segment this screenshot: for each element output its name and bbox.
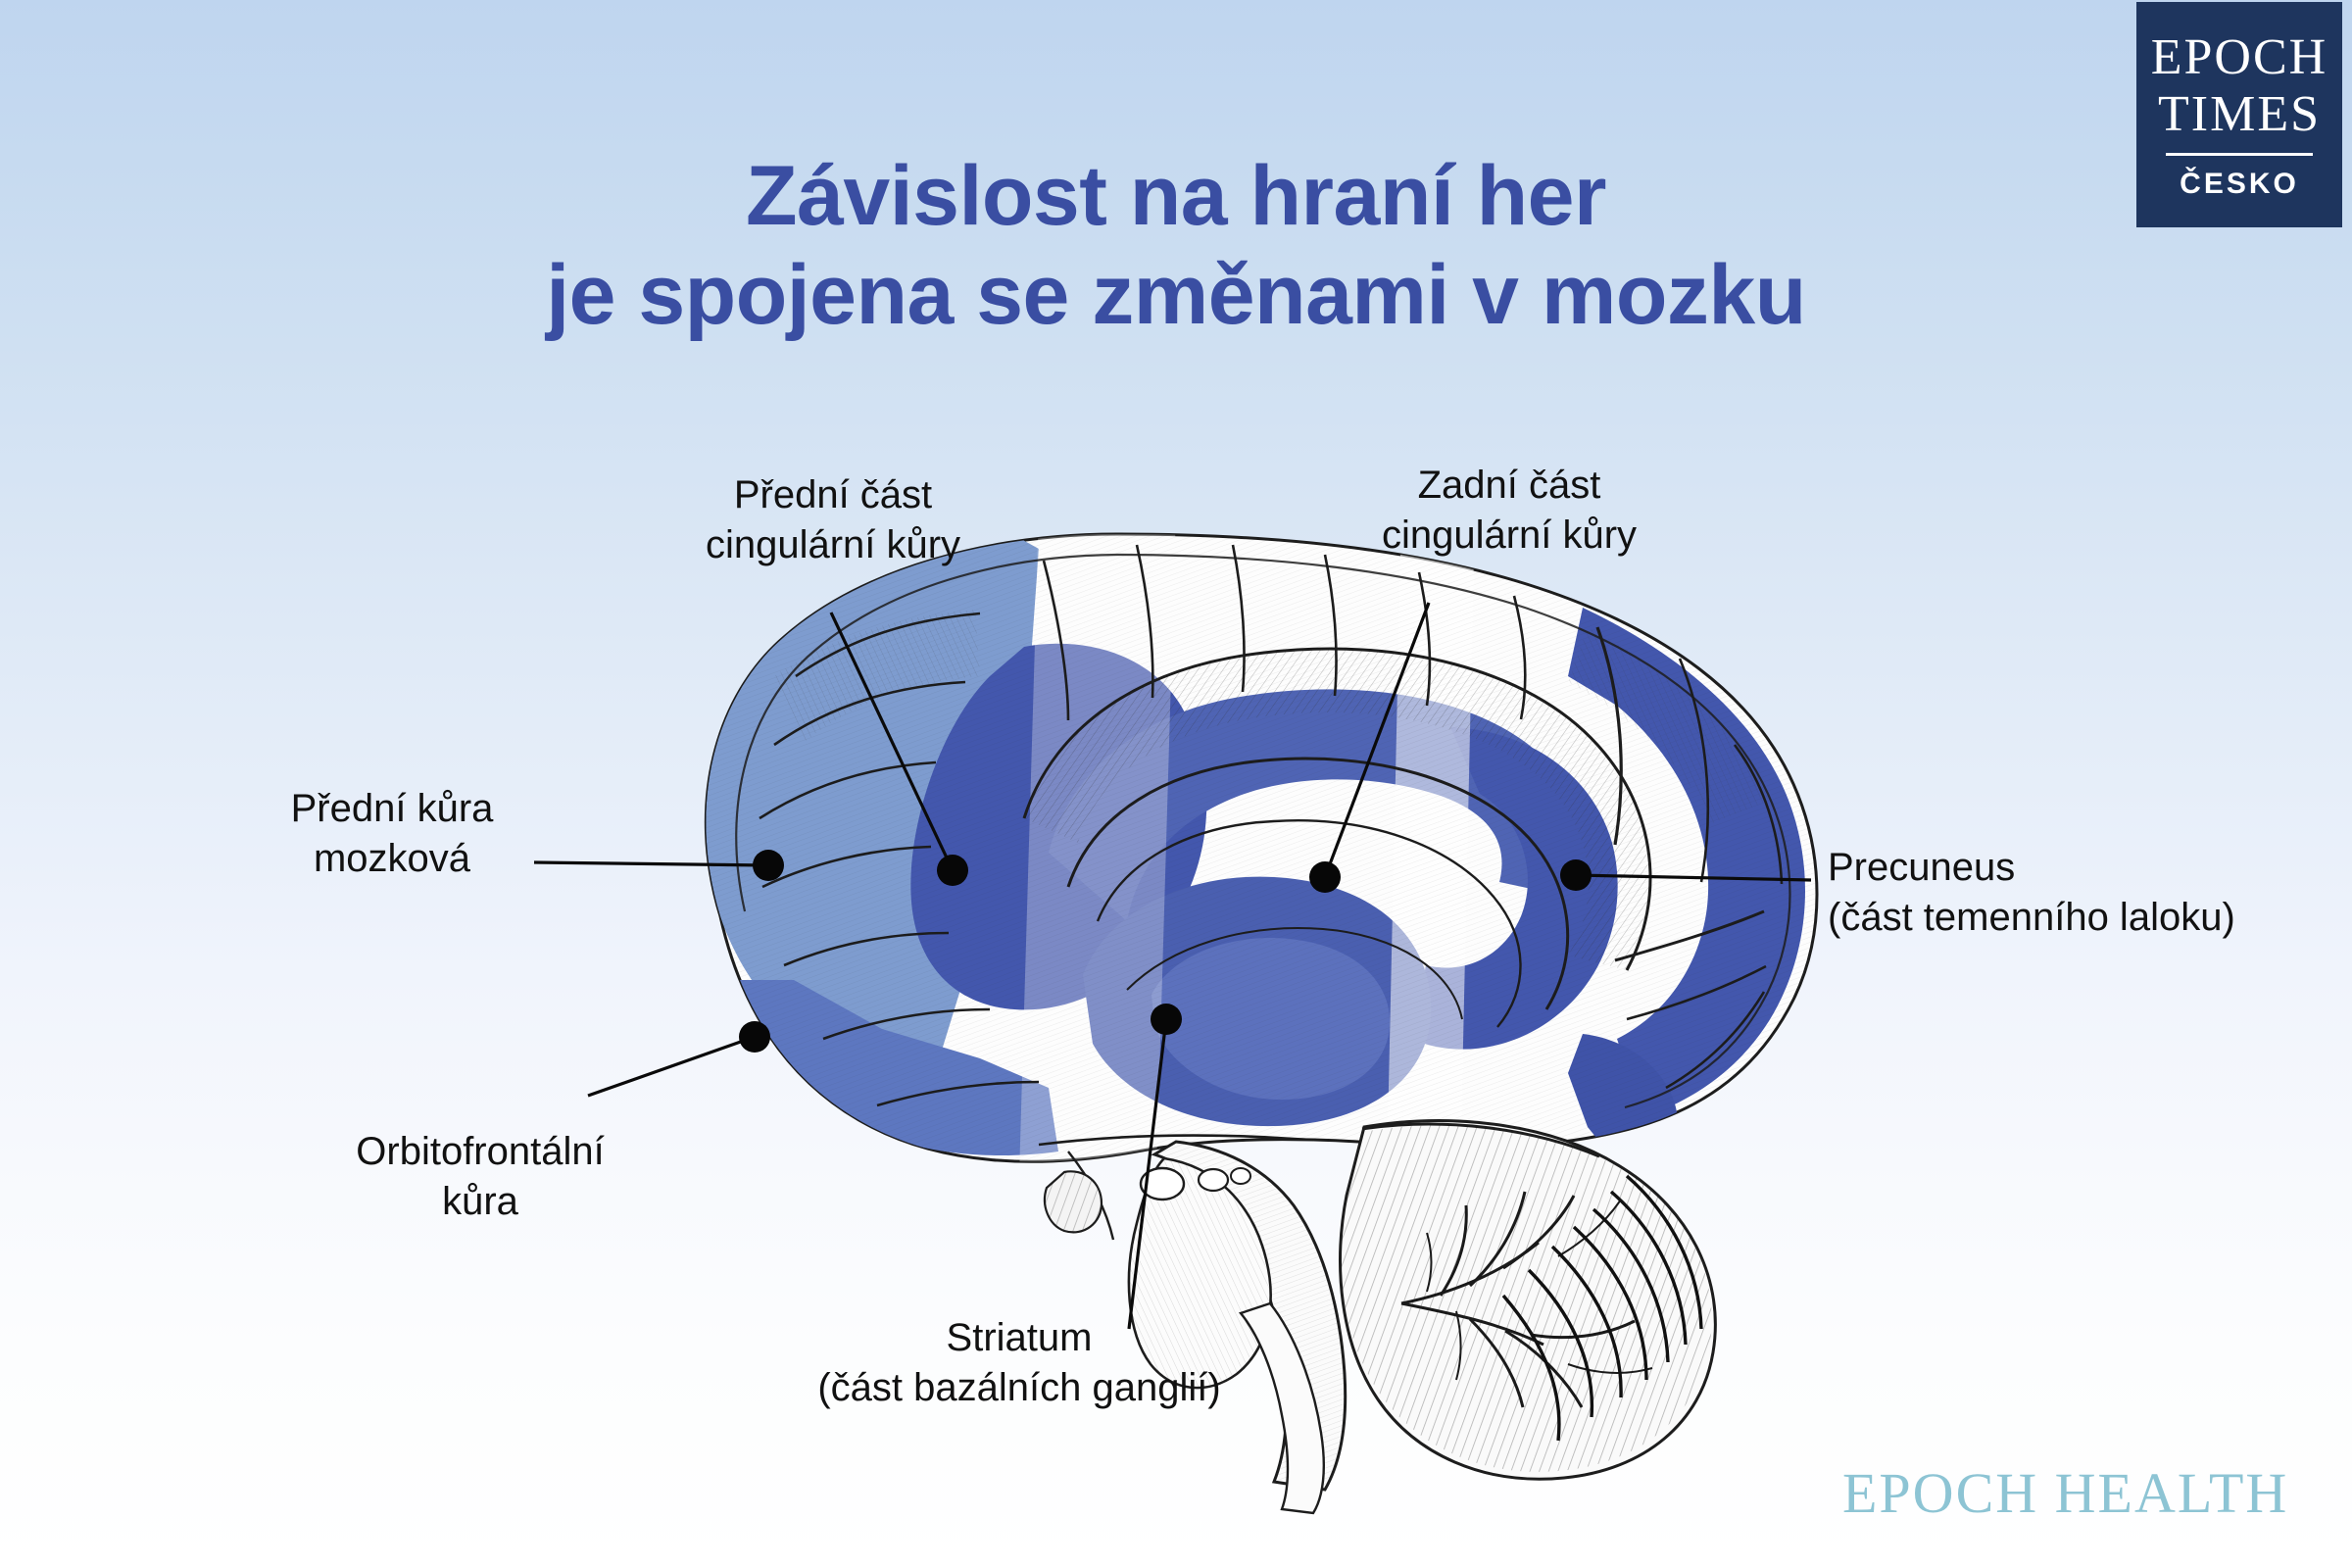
label-orbitofrontal-cortex-line-2: kůra [274, 1177, 686, 1227]
dot-striatum [1151, 1004, 1182, 1035]
label-anterior-cingulate: Přední část cingulární kůry [627, 470, 1039, 570]
label-orbitofrontal-cortex-line-1: Orbitofrontální [274, 1127, 686, 1177]
label-precuneus: Precuneus (část temenního laloku) [1828, 843, 2235, 943]
logo-word-epoch: EPOCH [2151, 29, 2327, 86]
label-anterior-cingulate-line-2: cingulární kůry [627, 520, 1039, 570]
dot-anterior-cingulate [937, 855, 968, 886]
label-prefrontal-cortex-line-2: mozková [196, 834, 588, 884]
dot-orbitofrontal-cortex [739, 1021, 770, 1053]
epoch-health-wordmark: EPOCH HEALTH [1842, 1460, 2288, 1526]
logo-word-times: TIMES [2158, 86, 2321, 143]
infographic-canvas: EPOCH TIMES ČESKO Závislost na hraní her… [0, 0, 2352, 1568]
label-posterior-cingulate: Zadní část cingulární kůry [1303, 461, 1715, 561]
label-posterior-cingulate-line-2: cingulární kůry [1303, 511, 1715, 561]
dot-precuneus [1560, 859, 1592, 891]
label-striatum: Striatum (část bazálních ganglií) [745, 1313, 1294, 1413]
label-prefrontal-cortex-line-1: Přední kůra [196, 784, 588, 834]
engraving-texture [706, 534, 1817, 1161]
page-title: Závislost na hraní her je spojena se změ… [0, 147, 2352, 346]
label-prefrontal-cortex: Přední kůra mozková [196, 784, 588, 884]
label-striatum-line-2: (část bazálních ganglií) [745, 1363, 1294, 1413]
label-orbitofrontal-cortex: Orbitofrontální kůra [274, 1127, 686, 1227]
cerebellum [1341, 1121, 1716, 1480]
label-precuneus-line-1: Precuneus [1828, 843, 2235, 893]
title-line-2: je spojena se změnami v mozku [0, 246, 2352, 345]
dot-prefrontal-cortex [753, 850, 784, 881]
label-precuneus-line-2: (část temenního laloku) [1828, 893, 2235, 943]
dot-posterior-cingulate [1309, 861, 1341, 893]
title-line-1: Závislost na hraní her [0, 147, 2352, 246]
label-anterior-cingulate-line-1: Přední část [627, 470, 1039, 520]
label-posterior-cingulate-line-1: Zadní část [1303, 461, 1715, 511]
label-striatum-line-1: Striatum [745, 1313, 1294, 1363]
leader-orbitofrontal-cortex [588, 1037, 755, 1096]
